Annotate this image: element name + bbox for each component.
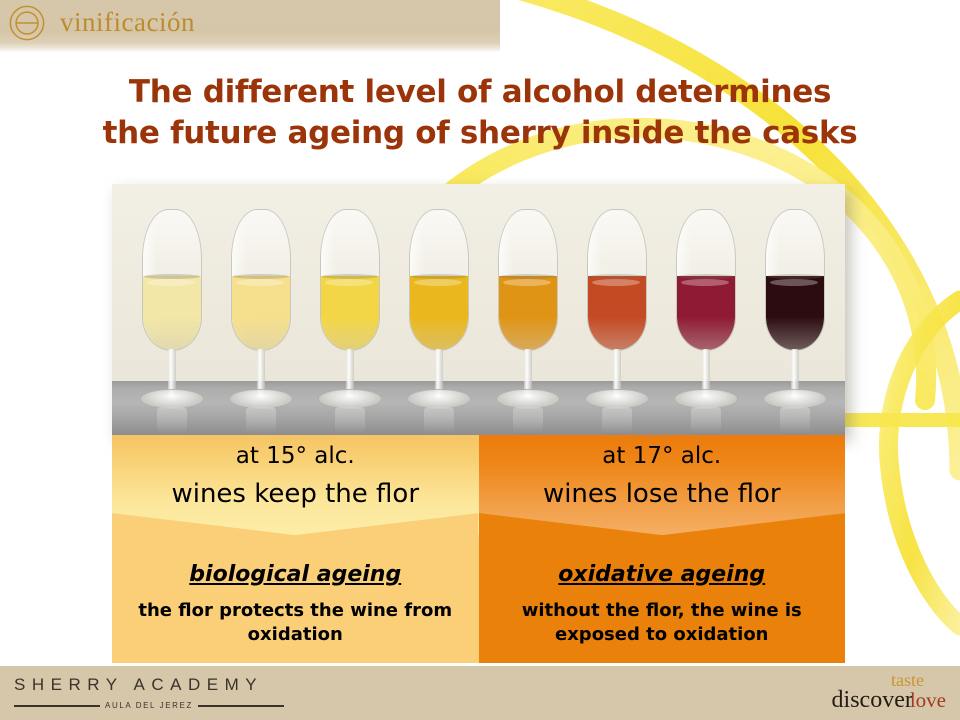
- glass-reflection: [691, 407, 721, 433]
- glass-reflection: [335, 407, 365, 433]
- wine-surface: [233, 274, 289, 279]
- panel-right-heading: at 17° alc. wines lose the flor: [479, 443, 846, 512]
- wine-glass: [224, 209, 298, 421]
- panel-left-body: biological ageing the flor protects the …: [112, 561, 479, 646]
- glass-bowl: [142, 209, 202, 351]
- theta-circle-icon: [8, 4, 46, 42]
- wine-surface: [678, 274, 734, 279]
- glass-bowl: [409, 209, 469, 351]
- slogan-row: discoverlove: [832, 689, 946, 712]
- footer-band: SHERRY ACADEMY AULA DEL JEREZ taste disc…: [0, 664, 960, 720]
- panel-biological-ageing: at 15° alc. wines keep the flor biologic…: [112, 435, 479, 663]
- panel-left-head-line-1: at 15° alc.: [112, 443, 479, 471]
- wine-liquid: [232, 276, 290, 350]
- wine-glass: [580, 209, 654, 421]
- footer-rule-right: [198, 705, 284, 707]
- header-band: vinificación: [0, 0, 500, 52]
- glass-reflection: [424, 407, 454, 433]
- slogan-discover: discover: [832, 687, 913, 713]
- wine-liquid: [677, 276, 735, 350]
- glass-foot: [407, 389, 471, 409]
- slide-title-line-1: The different level of alcohol determine…: [60, 72, 900, 113]
- footer-rule-left: [14, 705, 100, 707]
- glass-reflection: [602, 407, 632, 433]
- wine-liquid: [588, 276, 646, 350]
- panel-right-body-text: without the flor, the wine is exposed to…: [479, 599, 846, 647]
- panel-right-head-line-2: wines lose the flor: [479, 477, 846, 512]
- footer-brand-name: SHERRY ACADEMY: [14, 675, 284, 695]
- comparison-panels: at 15° alc. wines keep the flor biologic…: [112, 435, 845, 663]
- glass-bowl: [231, 209, 291, 351]
- wine-liquid: [499, 276, 557, 350]
- panel-right-body-title: oxidative ageing: [479, 561, 846, 590]
- glass-bowl: [676, 209, 736, 351]
- wine-glass: [669, 209, 743, 421]
- footer-brand-sub-wrap: AULA DEL JEREZ: [14, 701, 284, 710]
- wine-glass: [313, 209, 387, 421]
- glass-foot: [763, 389, 827, 409]
- wine-liquid: [410, 276, 468, 350]
- header-title: vinificación: [60, 7, 195, 38]
- wine-liquid: [321, 276, 379, 350]
- panel-left-heading: at 15° alc. wines keep the flor: [112, 443, 479, 512]
- glass-reflection: [246, 407, 276, 433]
- footer-slogan-logo: taste discoverlove: [832, 672, 946, 712]
- glass-bowl: [587, 209, 647, 351]
- wine-liquid: [766, 276, 824, 350]
- wine-surface: [411, 274, 467, 279]
- wine-glass: [758, 209, 832, 421]
- glass-reflection: [513, 407, 543, 433]
- slide-canvas: vinificación The different level of alco…: [0, 0, 960, 720]
- wine-glass: [491, 209, 565, 421]
- footer-brand-sub: AULA DEL JEREZ: [105, 701, 193, 710]
- slide-title-line-2: the future ageing of sherry inside the c…: [60, 113, 900, 154]
- wine-surface: [144, 274, 200, 279]
- glass-bowl: [765, 209, 825, 351]
- wine-glass: [135, 209, 209, 421]
- panel-left-body-text: the flor protects the wine from oxidatio…: [112, 599, 479, 647]
- wine-liquid: [143, 276, 201, 350]
- footer-brand-lockup: SHERRY ACADEMY AULA DEL JEREZ: [14, 675, 284, 710]
- wine-surface: [322, 274, 378, 279]
- glass-bowl: [498, 209, 558, 351]
- panel-left-head-line-2: wines keep the flor: [112, 477, 479, 512]
- panel-right-head-line-1: at 17° alc.: [479, 443, 846, 471]
- glass-foot: [140, 389, 204, 409]
- slogan-love: love: [910, 688, 946, 712]
- glass-reflection: [157, 407, 187, 433]
- panel-oxidative-ageing: at 17° alc. wines lose the flor oxidativ…: [479, 435, 846, 663]
- glass-foot: [674, 389, 738, 409]
- glass-foot: [496, 389, 560, 409]
- panel-left-body-title: biological ageing: [112, 561, 479, 590]
- wine-surface: [589, 274, 645, 279]
- wine-surface: [500, 274, 556, 279]
- wine-glasses-photo: [112, 184, 845, 435]
- wine-glass: [402, 209, 476, 421]
- panel-right-body: oxidative ageing without the flor, the w…: [479, 561, 846, 646]
- glass-reflection: [780, 407, 810, 433]
- slide-title: The different level of alcohol determine…: [60, 72, 900, 154]
- glass-foot: [318, 389, 382, 409]
- glass-foot: [229, 389, 293, 409]
- glass-foot: [585, 389, 649, 409]
- glass-bowl: [320, 209, 380, 351]
- wine-surface: [767, 274, 823, 279]
